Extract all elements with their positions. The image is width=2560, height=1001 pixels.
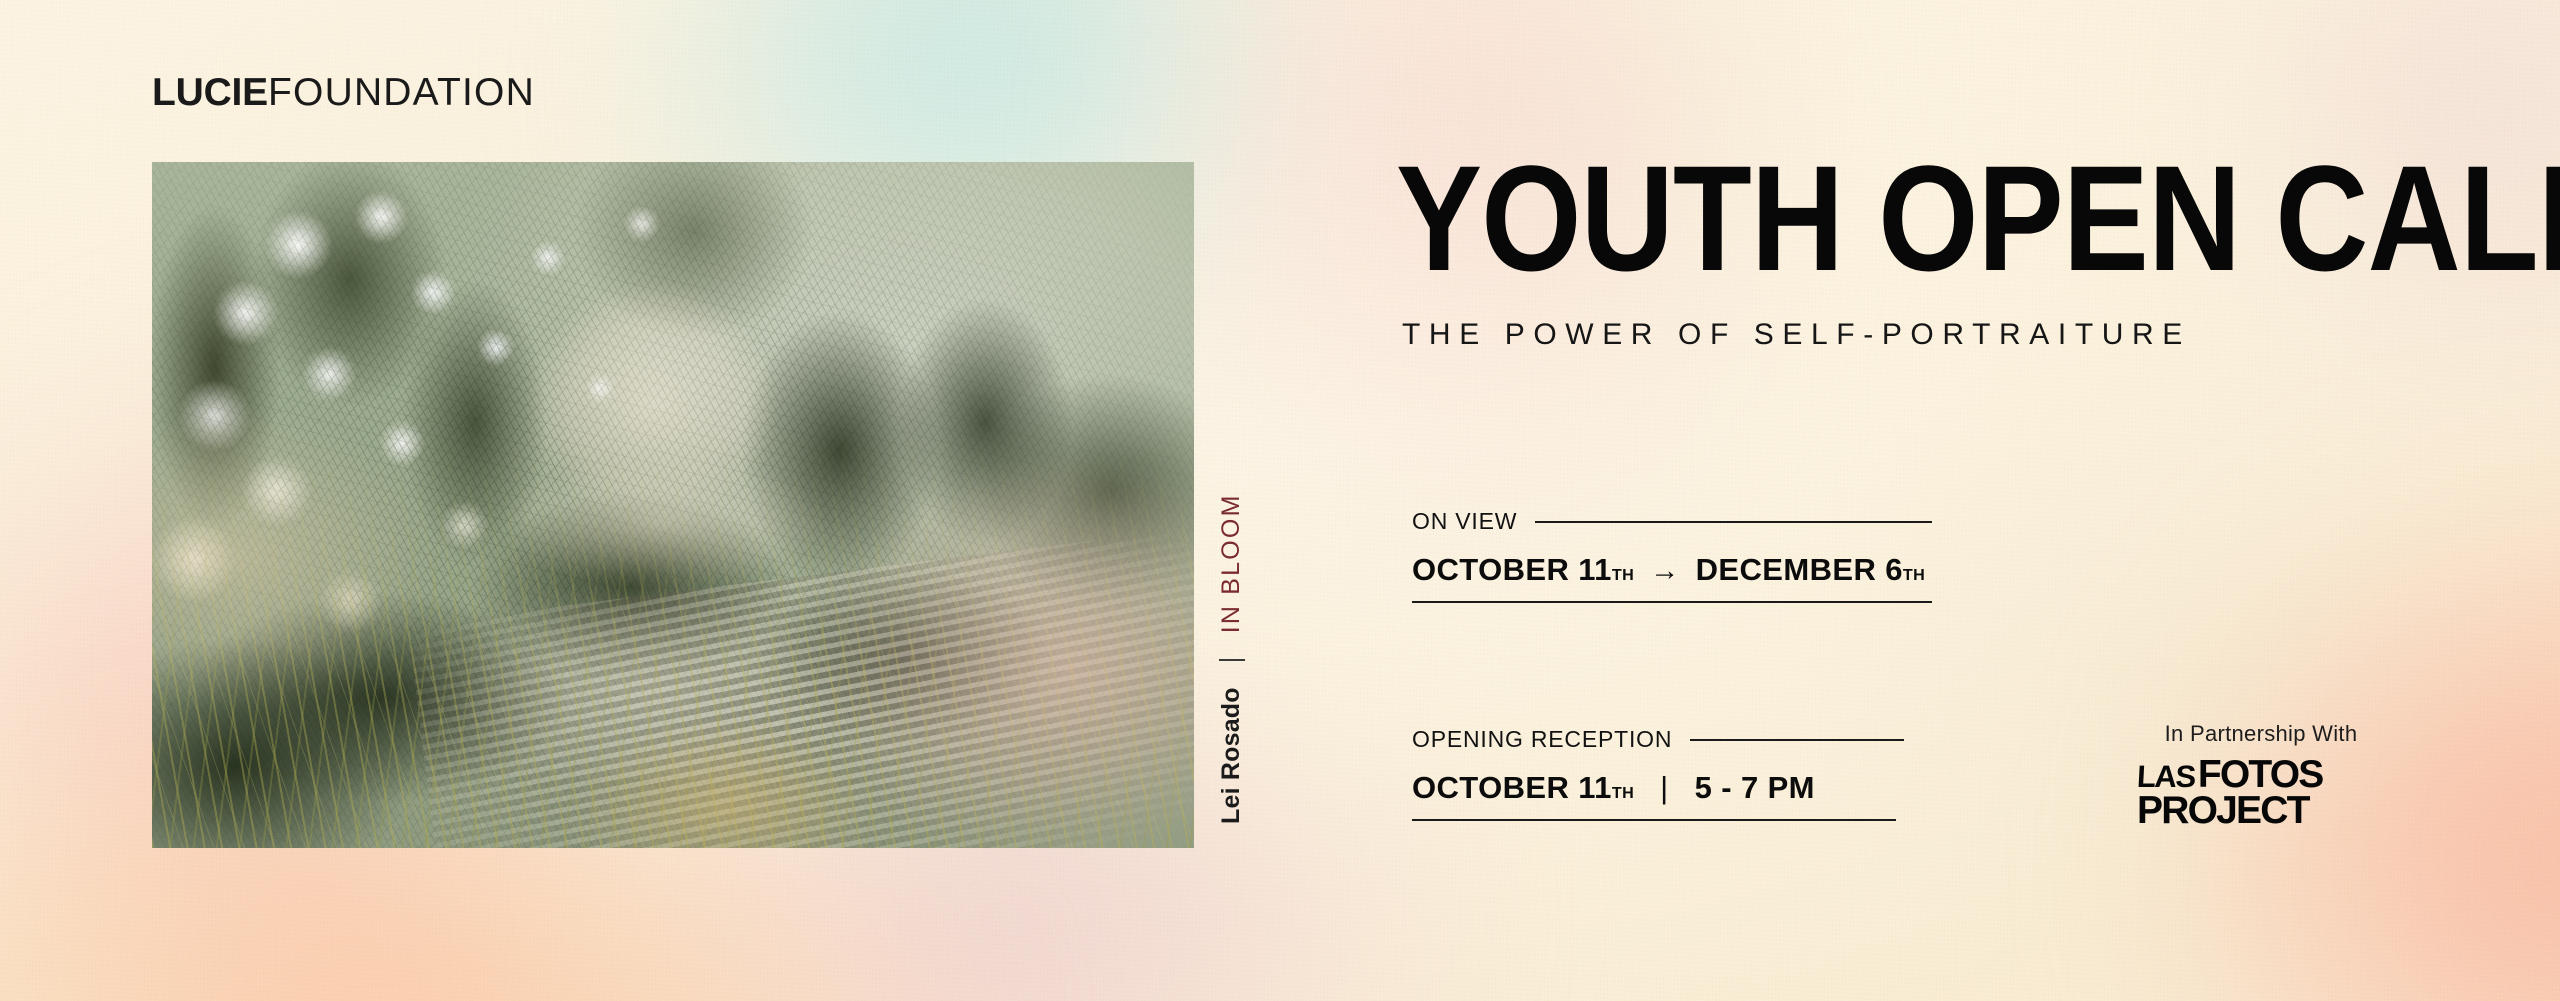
reception-block: OPENING RECEPTION OCTOBER 11TH | 5 - 7 P… bbox=[1412, 726, 1904, 821]
date-range-arrow-icon: → bbox=[1650, 555, 1680, 588]
reception-divider-icon: | bbox=[1660, 770, 1668, 806]
on-view-block: ON VIEW OCTOBER 11TH → DECEMBER 6TH bbox=[1412, 508, 1932, 603]
on-view-start-date: OCTOBER 11 bbox=[1412, 552, 1612, 588]
artwork-photo bbox=[152, 162, 1194, 848]
lucie-foundation-logo[interactable]: LUCIEFOUNDATION bbox=[152, 73, 535, 112]
reception-date: OCTOBER 11 bbox=[1412, 770, 1612, 806]
on-view-end-ordinal: TH bbox=[1903, 566, 1925, 585]
reception-label: OPENING RECEPTION bbox=[1412, 726, 1672, 753]
partner-label: In Partnership With bbox=[2131, 722, 2391, 746]
partner-logo-word-las: LAS bbox=[2136, 764, 2195, 791]
las-fotos-project-logo[interactable]: LASFOTOS PROJECT bbox=[2131, 758, 2391, 827]
reception-datetime: OCTOBER 11TH | 5 - 7 PM bbox=[1412, 770, 1904, 806]
artwork-title: IN BLOOM bbox=[1217, 493, 1246, 633]
reception-rule bbox=[1690, 739, 1904, 741]
headline-block: YOUTH OPEN CALL THE POWER OF SELF-PORTRA… bbox=[1396, 152, 2396, 352]
reception-underline bbox=[1412, 819, 1896, 821]
on-view-dates: OCTOBER 11TH → DECEMBER 6TH bbox=[1412, 552, 1932, 588]
reception-heading: OPENING RECEPTION bbox=[1412, 726, 1904, 753]
reception-date-ordinal: TH bbox=[1612, 784, 1634, 803]
photo-color-grade bbox=[152, 162, 1194, 848]
artwork-credit-rail: Lei Rosado IN BLOOM bbox=[1218, 162, 1274, 848]
on-view-rule bbox=[1535, 521, 1932, 523]
logo-word-lucie: LUCIE bbox=[152, 71, 268, 114]
on-view-heading: ON VIEW bbox=[1412, 508, 1932, 535]
artwork-artist-name: Lei Rosado bbox=[1217, 687, 1246, 824]
partner-lockup: In Partnership With LASFOTOS PROJECT bbox=[2131, 722, 2391, 827]
reception-time: 5 - 7 PM bbox=[1695, 770, 1815, 806]
poster-canvas: LUCIEFOUNDATION Lei Rosado IN BLOOM YOUT… bbox=[0, 0, 2560, 1001]
partner-logo-line-2: PROJECT bbox=[2137, 794, 2391, 828]
on-view-start-ordinal: TH bbox=[1612, 566, 1634, 585]
on-view-end-date: DECEMBER 6 bbox=[1696, 552, 1903, 588]
credit-divider-icon bbox=[1219, 659, 1245, 661]
page-title: YOUTH OPEN CALL bbox=[1396, 152, 2256, 284]
on-view-label: ON VIEW bbox=[1412, 508, 1517, 535]
partner-logo-line-1: LASFOTOS bbox=[2137, 758, 2391, 792]
logo-word-foundation: FOUNDATION bbox=[268, 71, 535, 114]
artwork-credit: Lei Rosado IN BLOOM bbox=[1217, 493, 1246, 824]
on-view-underline bbox=[1412, 601, 1932, 603]
page-subtitle: THE POWER OF SELF-PORTRAITURE bbox=[1402, 318, 2396, 352]
